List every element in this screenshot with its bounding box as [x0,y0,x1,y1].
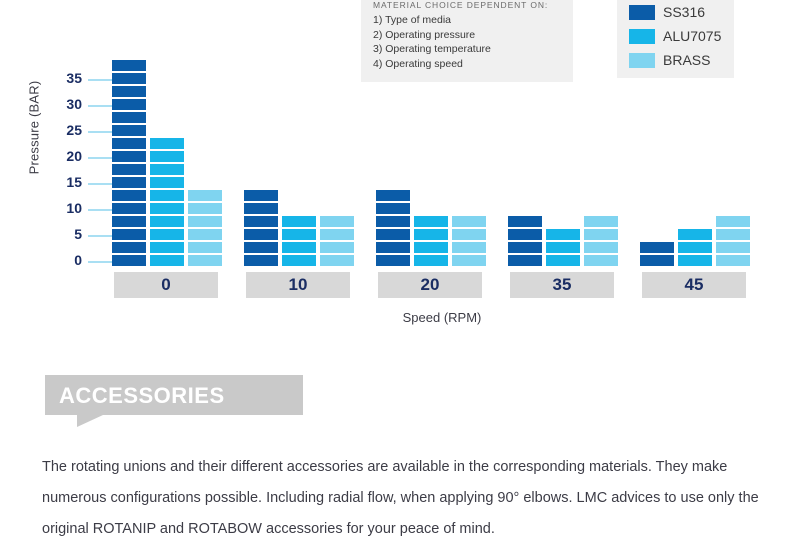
bar-brass-20 [452,216,486,266]
bar-segment [244,216,278,227]
y-tick-35: 35 [0,79,112,80]
bar-segment [282,255,316,266]
category-box-0: 0 [114,272,218,298]
y-tick-20: 20 [0,157,112,158]
y-tick-0: 0 [0,261,112,262]
bar-segment [282,242,316,253]
bar-segment [584,216,618,227]
bar-segment [452,242,486,253]
bar-segment [112,203,146,214]
category-label: 45 [685,275,704,295]
bar-segment [244,203,278,214]
x-axis-title: Speed (RPM) [112,310,772,325]
bar-brass-10 [320,216,354,266]
category-label: 10 [289,275,308,295]
info-box-title: MATERIAL CHOICE DEPENDENT ON: [373,0,563,10]
y-tick-30: 30 [0,105,112,106]
bar-segment [282,216,316,227]
pressure-speed-chart: Pressure (BAR) 05101520253035 Speed (RPM… [0,0,800,340]
bar-segment [716,242,750,253]
y-tick-label: 30 [66,96,82,112]
bar-alu7075-20 [414,216,448,266]
bar-segment [188,203,222,214]
bar-segment [640,242,674,253]
bar-segment [716,229,750,240]
gridline [88,261,114,263]
bar-segment [452,229,486,240]
category-label: 20 [421,275,440,295]
bar-segment [414,255,448,266]
info-box-item: 1) Type of media [373,13,563,28]
gridline [88,79,114,81]
bar-segment [150,151,184,162]
bar-segment [188,242,222,253]
bar-ss316-35 [508,216,542,266]
bar-ss316-0 [112,60,146,266]
accessories-banner: ACCESSORIES [45,375,303,415]
bar-segment [678,242,712,253]
y-tick-label: 35 [66,70,82,86]
bar-ss316-45 [640,242,674,266]
legend-item-brass: BRASS [629,48,734,72]
bar-segment [112,86,146,97]
legend-item-alu7075: ALU7075 [629,24,734,48]
bar-segment [112,164,146,175]
bar-segment [452,216,486,227]
bar-ss316-20 [376,190,410,266]
category-box-35: 35 [510,272,614,298]
bar-brass-45 [716,216,750,266]
material-choice-info-box: MATERIAL CHOICE DEPENDENT ON: 1) Type of… [361,0,573,82]
bar-segment [150,164,184,175]
legend-label: SS316 [663,4,705,20]
legend-swatch-icon [629,5,655,20]
bar-segment [640,255,674,266]
bar-segment [376,255,410,266]
bar-segment [188,229,222,240]
bar-segment [508,229,542,240]
bar-segment [376,216,410,227]
bar-segment [376,203,410,214]
bar-segment [112,255,146,266]
bar-segment [150,138,184,149]
bar-alu7075-35 [546,229,580,266]
bar-segment [112,138,146,149]
gridline [88,183,114,185]
bar-segment [376,229,410,240]
y-tick-label: 0 [74,252,82,268]
info-box-list: 1) Type of media2) Operating pressure3) … [373,13,563,71]
bar-segment [716,255,750,266]
bar-segment [584,255,618,266]
legend-label: BRASS [663,52,710,68]
bar-segment [112,216,146,227]
bar-segment [546,242,580,253]
gridline [88,131,114,133]
bar-segment [546,229,580,240]
bar-segment [414,229,448,240]
bar-segment [452,255,486,266]
bar-segment [150,229,184,240]
bar-group-10 [244,0,354,266]
bar-segment [584,242,618,253]
bar-segment [320,216,354,227]
bar-segment [150,216,184,227]
category-box-45: 45 [642,272,746,298]
bar-segment [150,242,184,253]
bar-ss316-10 [244,190,278,266]
bar-segment [112,177,146,188]
accessories-paragraph: The rotating unions and their different … [42,452,792,545]
chart-legend: SS316ALU7075BRASS [617,0,734,78]
bar-segment [150,255,184,266]
gridline [88,157,114,159]
y-tick-label: 20 [66,148,82,164]
bar-segment [244,242,278,253]
bar-segment [112,151,146,162]
bar-segment [508,242,542,253]
category-label: 35 [553,275,572,295]
category-label: 0 [161,275,170,295]
bar-alu7075-45 [678,229,712,266]
gridline [88,105,114,107]
bar-alu7075-0 [150,138,184,266]
bar-brass-35 [584,216,618,266]
y-tick-15: 15 [0,183,112,184]
legend-item-ss316: SS316 [629,0,734,24]
legend-label: ALU7075 [663,28,721,44]
bar-alu7075-10 [282,216,316,266]
info-box-item: 3) Operating temperature [373,42,563,57]
bars [244,0,354,266]
bar-segment [320,242,354,253]
bar-segment [112,229,146,240]
bar-segment [678,255,712,266]
bar-group-0 [112,0,222,266]
bar-segment [508,216,542,227]
bar-segment [244,255,278,266]
bar-segment [112,190,146,201]
info-box-item: 4) Operating speed [373,57,563,72]
bar-segment [584,229,618,240]
legend-swatch-icon [629,29,655,44]
bar-segment [414,216,448,227]
category-box-20: 20 [378,272,482,298]
y-axis-title: Pressure (BAR) [27,68,42,188]
gridline [88,209,114,211]
y-tick-label: 10 [66,200,82,216]
bar-segment [546,255,580,266]
bar-segment [112,60,146,71]
bar-segment [282,229,316,240]
bar-segment [320,255,354,266]
category-box-10: 10 [246,272,350,298]
y-tick-25: 25 [0,131,112,132]
bar-segment [112,73,146,84]
bar-segment [112,242,146,253]
bar-segment [244,190,278,201]
y-tick-label: 15 [66,174,82,190]
bar-segment [244,229,278,240]
gridline [88,235,114,237]
bar-segment [188,190,222,201]
bar-segment [112,112,146,123]
bar-brass-0 [188,190,222,266]
bar-segment [678,229,712,240]
bar-segment [320,229,354,240]
bar-segment [376,190,410,201]
bar-segment [150,190,184,201]
bars [112,0,222,266]
bar-segment [716,216,750,227]
bar-segment [112,99,146,110]
info-box-item: 2) Operating pressure [373,28,563,43]
y-tick-5: 5 [0,235,112,236]
y-tick-label: 5 [74,226,82,242]
bar-segment [376,242,410,253]
y-tick-10: 10 [0,209,112,210]
bar-segment [150,177,184,188]
bar-segment [188,216,222,227]
bar-segment [150,203,184,214]
bar-segment [188,255,222,266]
banner-notch-shape [77,415,103,427]
bar-segment [508,255,542,266]
bar-segment [112,125,146,136]
legend-swatch-icon [629,53,655,68]
bar-segment [414,242,448,253]
accessories-heading: ACCESSORIES [59,383,225,409]
y-tick-label: 25 [66,122,82,138]
